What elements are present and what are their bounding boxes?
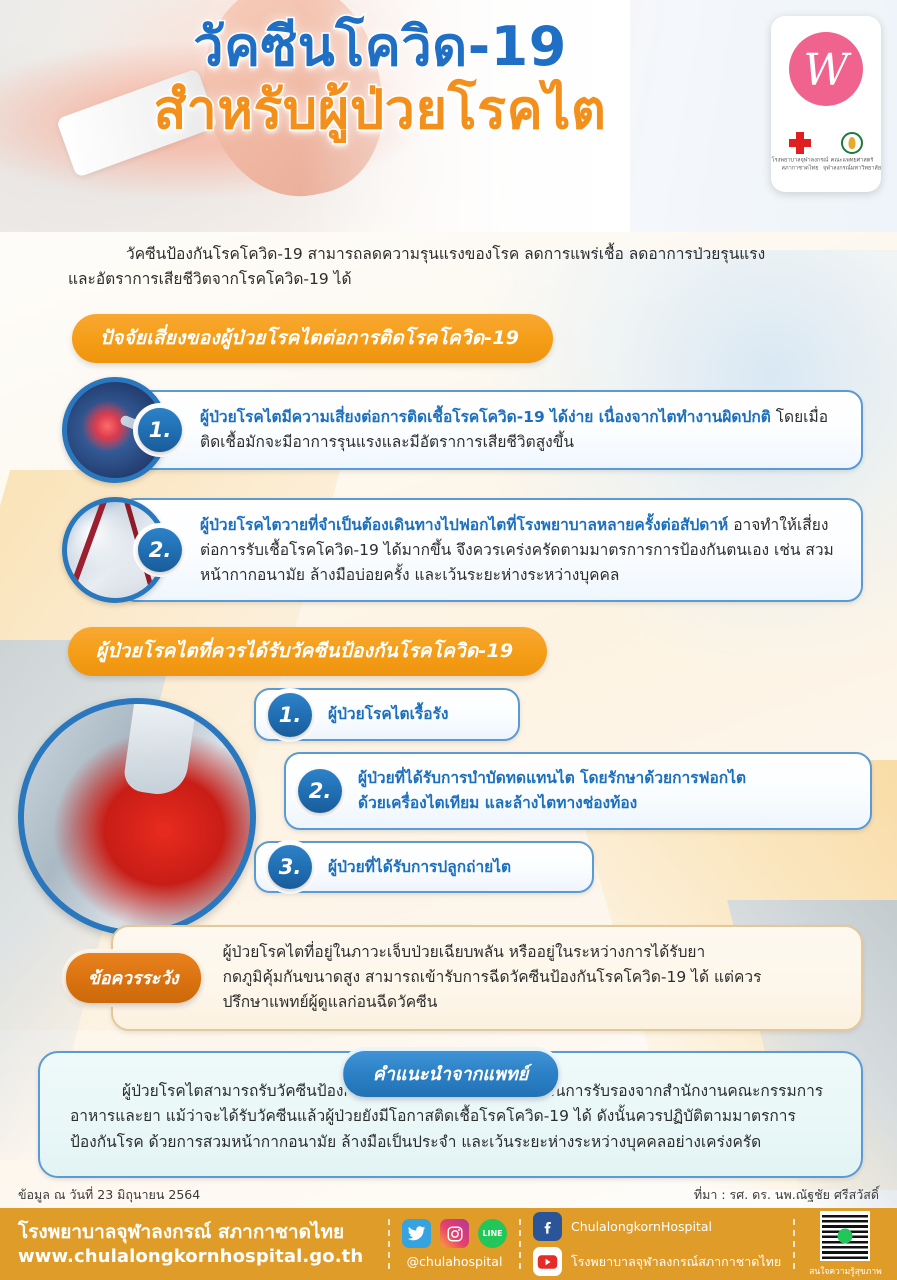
caution-line-3: ปรึกษาแพทย์ผู้ดูแลก่อนฉีดวัคซีน [223, 990, 835, 1015]
twitter-icon[interactable] [402, 1219, 431, 1248]
risk-section-header-wrap: ปัจจัยเสี่ยงของผู้ป่วยโรคไตต่อการติดโรคโ… [72, 314, 897, 363]
faculty-caption: คณะแพทยศาสตร์ จุฬาลงกรณ์มหาวิทยาลัย [818, 157, 886, 174]
instagram-icon[interactable] [440, 1219, 469, 1248]
line-qr-code[interactable] [820, 1211, 870, 1261]
should-item-1-text: ผู้ป่วยโรคไตเรื้อรัง [328, 702, 492, 727]
social-icon-row: LINE [402, 1219, 507, 1248]
red-cross-icon [789, 132, 811, 154]
source-date: ข้อมูล ณ วันที่ 23 มิถุนายน 2564 [18, 1185, 200, 1205]
should-item-2-number: 2. [298, 769, 342, 813]
risk-item-2-number: 2. [138, 528, 182, 572]
kidney-anatomy-icon [18, 698, 256, 936]
logo-letter: W [803, 49, 848, 93]
should-item-1-number: 1. [268, 693, 312, 737]
qr-caption: สนใจความรู้สุขภาพ [809, 1264, 882, 1278]
should-section-header-wrap: ผู้ป่วยโรคไตที่ควรได้รับวัคซีนป้องกันโรค… [68, 627, 897, 676]
poster-header: วัคซีนโควิด-19 สำหรับผู้ป่วยโรคไต [0, 0, 897, 232]
youtube-row[interactable]: โรงพยาบาลจุฬาลงกรณ์สภากาชาดไทย [533, 1247, 781, 1276]
risk-item-1: 1. ผู้ป่วยโรคไตมีความเสี่ยงต่อการติดเชื้… [62, 377, 863, 483]
risk-item-1-card: ผู้ป่วยโรคไตมีความเสี่ยงต่อการติดเชื้อโร… [120, 390, 863, 470]
footer-identity: โรงพยาบาลจุฬาลงกรณ์ สภากาชาดไทย www.chul… [0, 1220, 388, 1267]
should-item-2-text: ผู้ป่วยที่ได้รับการบำบัดทดแทนไต โดยรักษา… [358, 766, 844, 791]
risk-item-1-highlight: ผู้ป่วยโรคไตมีความเสี่ยงต่อการติดเชื้อโร… [200, 408, 771, 426]
risk-item-2: 2. ผู้ป่วยโรคไตวายที่จำเป็นต้องเดินทางไป… [62, 497, 863, 603]
advice-section: คำแนะนำจากแพทย์ ผู้ป่วยโรคไตสามารถรับวัค… [38, 1051, 863, 1178]
facebook-row[interactable]: ChulalongkornHospital [533, 1212, 781, 1241]
intro-line-1: วัคซีนป้องกันโรคโควิด-19 สามารถลดความรุน… [68, 242, 837, 267]
source-line: ข้อมูล ณ วันที่ 23 มิถุนายน 2564 ที่มา :… [0, 1185, 897, 1205]
should-item-3-number: 3. [268, 845, 312, 889]
should-section-heading: ผู้ป่วยโรคไตที่ควรได้รับวัคซีนป้องกันโรค… [68, 627, 547, 676]
should-item-3-text: ผู้ป่วยที่ได้รับการปลูกถ่ายไต [328, 855, 566, 880]
title-line-2: สำหรับผู้ป่วยโรคไต [0, 80, 760, 140]
organization-logo-card: W โรงพยาบาลจุฬาลงกรณ์ สภากาชาดไทย คณะแพท… [771, 16, 881, 192]
facebook-page-name: ChulalongkornHospital [571, 1219, 712, 1234]
caution-line-1: ผู้ป่วยโรคไตที่อยู่ในภาวะเจ็บป่วยเฉียบพล… [223, 940, 835, 965]
youtube-icon[interactable] [533, 1247, 562, 1276]
risk-item-1-number: 1. [138, 408, 182, 452]
poster-title: วัคซีนโควิด-19 สำหรับผู้ป่วยโรคไต [0, 18, 760, 141]
risk-item-2-highlight: ผู้ป่วยโรคไตวายที่จำเป็นต้องเดินทางไปฟอก… [200, 516, 728, 534]
caution-badge: ข้อควรระวัง [66, 953, 201, 1003]
footer-page-links: ChulalongkornHospital โรงพยาบาลจุฬาลงกรณ… [521, 1212, 793, 1276]
faculty-seal-icon [841, 132, 863, 154]
advice-badge: คำแนะนำจากแพทย์ [343, 1051, 559, 1097]
footer-hospital-name: โรงพยาบาลจุฬาลงกรณ์ สภากาชาดไทย [18, 1220, 388, 1244]
footer-social-group: LINE @chulahospital [390, 1219, 519, 1269]
advice-line-2: อาหารและยา แม้ว่าจะได้รับวัคซีนแล้วผู้ป่… [70, 1104, 831, 1130]
source-credit: ที่มา : รศ. ดร. นพ.ณัฐชัย ศรีสวัสดิ์ [694, 1185, 879, 1205]
risk-section-heading: ปัจจัยเสี่ยงของผู้ป่วยโรคไตต่อการติดโรคโ… [72, 314, 553, 363]
caution-card: ผู้ป่วยโรคไตที่อยู่ในภาวะเจ็บป่วยเฉียบพล… [111, 925, 863, 1030]
chula-w-logo-icon: W [789, 32, 863, 106]
logo-sub-badges: โรงพยาบาลจุฬาลงกรณ์ สภากาชาดไทย คณะแพทยศ… [778, 132, 874, 168]
facebook-icon[interactable] [533, 1212, 562, 1241]
intro-line-2: และอัตราการเสียชีวิตจากโรคโควิด-19 ได้ [68, 267, 837, 292]
caution-line-2: กดภูมิคุ้มกันขนาดสูง สามารถเข้ารับการฉีด… [223, 965, 835, 990]
should-item-2-card: ผู้ป่วยที่ได้รับการบำบัดทดแทนไต โดยรักษา… [284, 752, 872, 830]
social-handle: @chulahospital [407, 1254, 503, 1269]
line-icon[interactable]: LINE [478, 1219, 507, 1248]
advice-line-3: ป้องกันโรค ด้วยการสวมหน้ากากอนามัย ล้างม… [70, 1130, 831, 1156]
footer-website-url[interactable]: www.chulalongkornhospital.go.th [18, 1245, 388, 1268]
poster-footer: โรงพยาบาลจุฬาลงกรณ์ สภากาชาดไทย www.chul… [0, 1208, 897, 1280]
faculty-logo: คณะแพทยศาสตร์ จุฬาลงกรณ์มหาวิทยาลัย [830, 132, 874, 168]
red-cross-logo: โรงพยาบาลจุฬาลงกรณ์ สภากาชาดไทย [778, 132, 822, 168]
infographic-poster: วัคซีนโควิด-19 สำหรับผู้ป่วยโรคไต W โรงพ… [0, 0, 897, 1280]
footer-qr-block: สนใจความรู้สุขภาพ [795, 1211, 892, 1278]
intro-paragraph: วัคซีนป้องกันโรคโควิด-19 สามารถลดความรุน… [68, 242, 837, 292]
caution-section: ข้อควรระวัง ผู้ป่วยโรคไตที่อยู่ในภาวะเจ็… [66, 925, 863, 1030]
should-item-2-text2: ด้วยเครื่องไตเทียม และล้างไตทางช่องท้อง [358, 791, 844, 816]
youtube-channel-name: โรงพยาบาลจุฬาลงกรณ์สภากาชาดไทย [571, 1252, 781, 1272]
title-line-1: วัคซีนโควิด-19 [0, 18, 760, 76]
risk-item-2-card: ผู้ป่วยโรคไตวายที่จำเป็นต้องเดินทางไปฟอก… [120, 498, 863, 602]
should-receive-list: 1. ผู้ป่วยโรคไตเรื้อรัง 2. ผู้ป่วยที่ได้… [0, 688, 897, 913]
